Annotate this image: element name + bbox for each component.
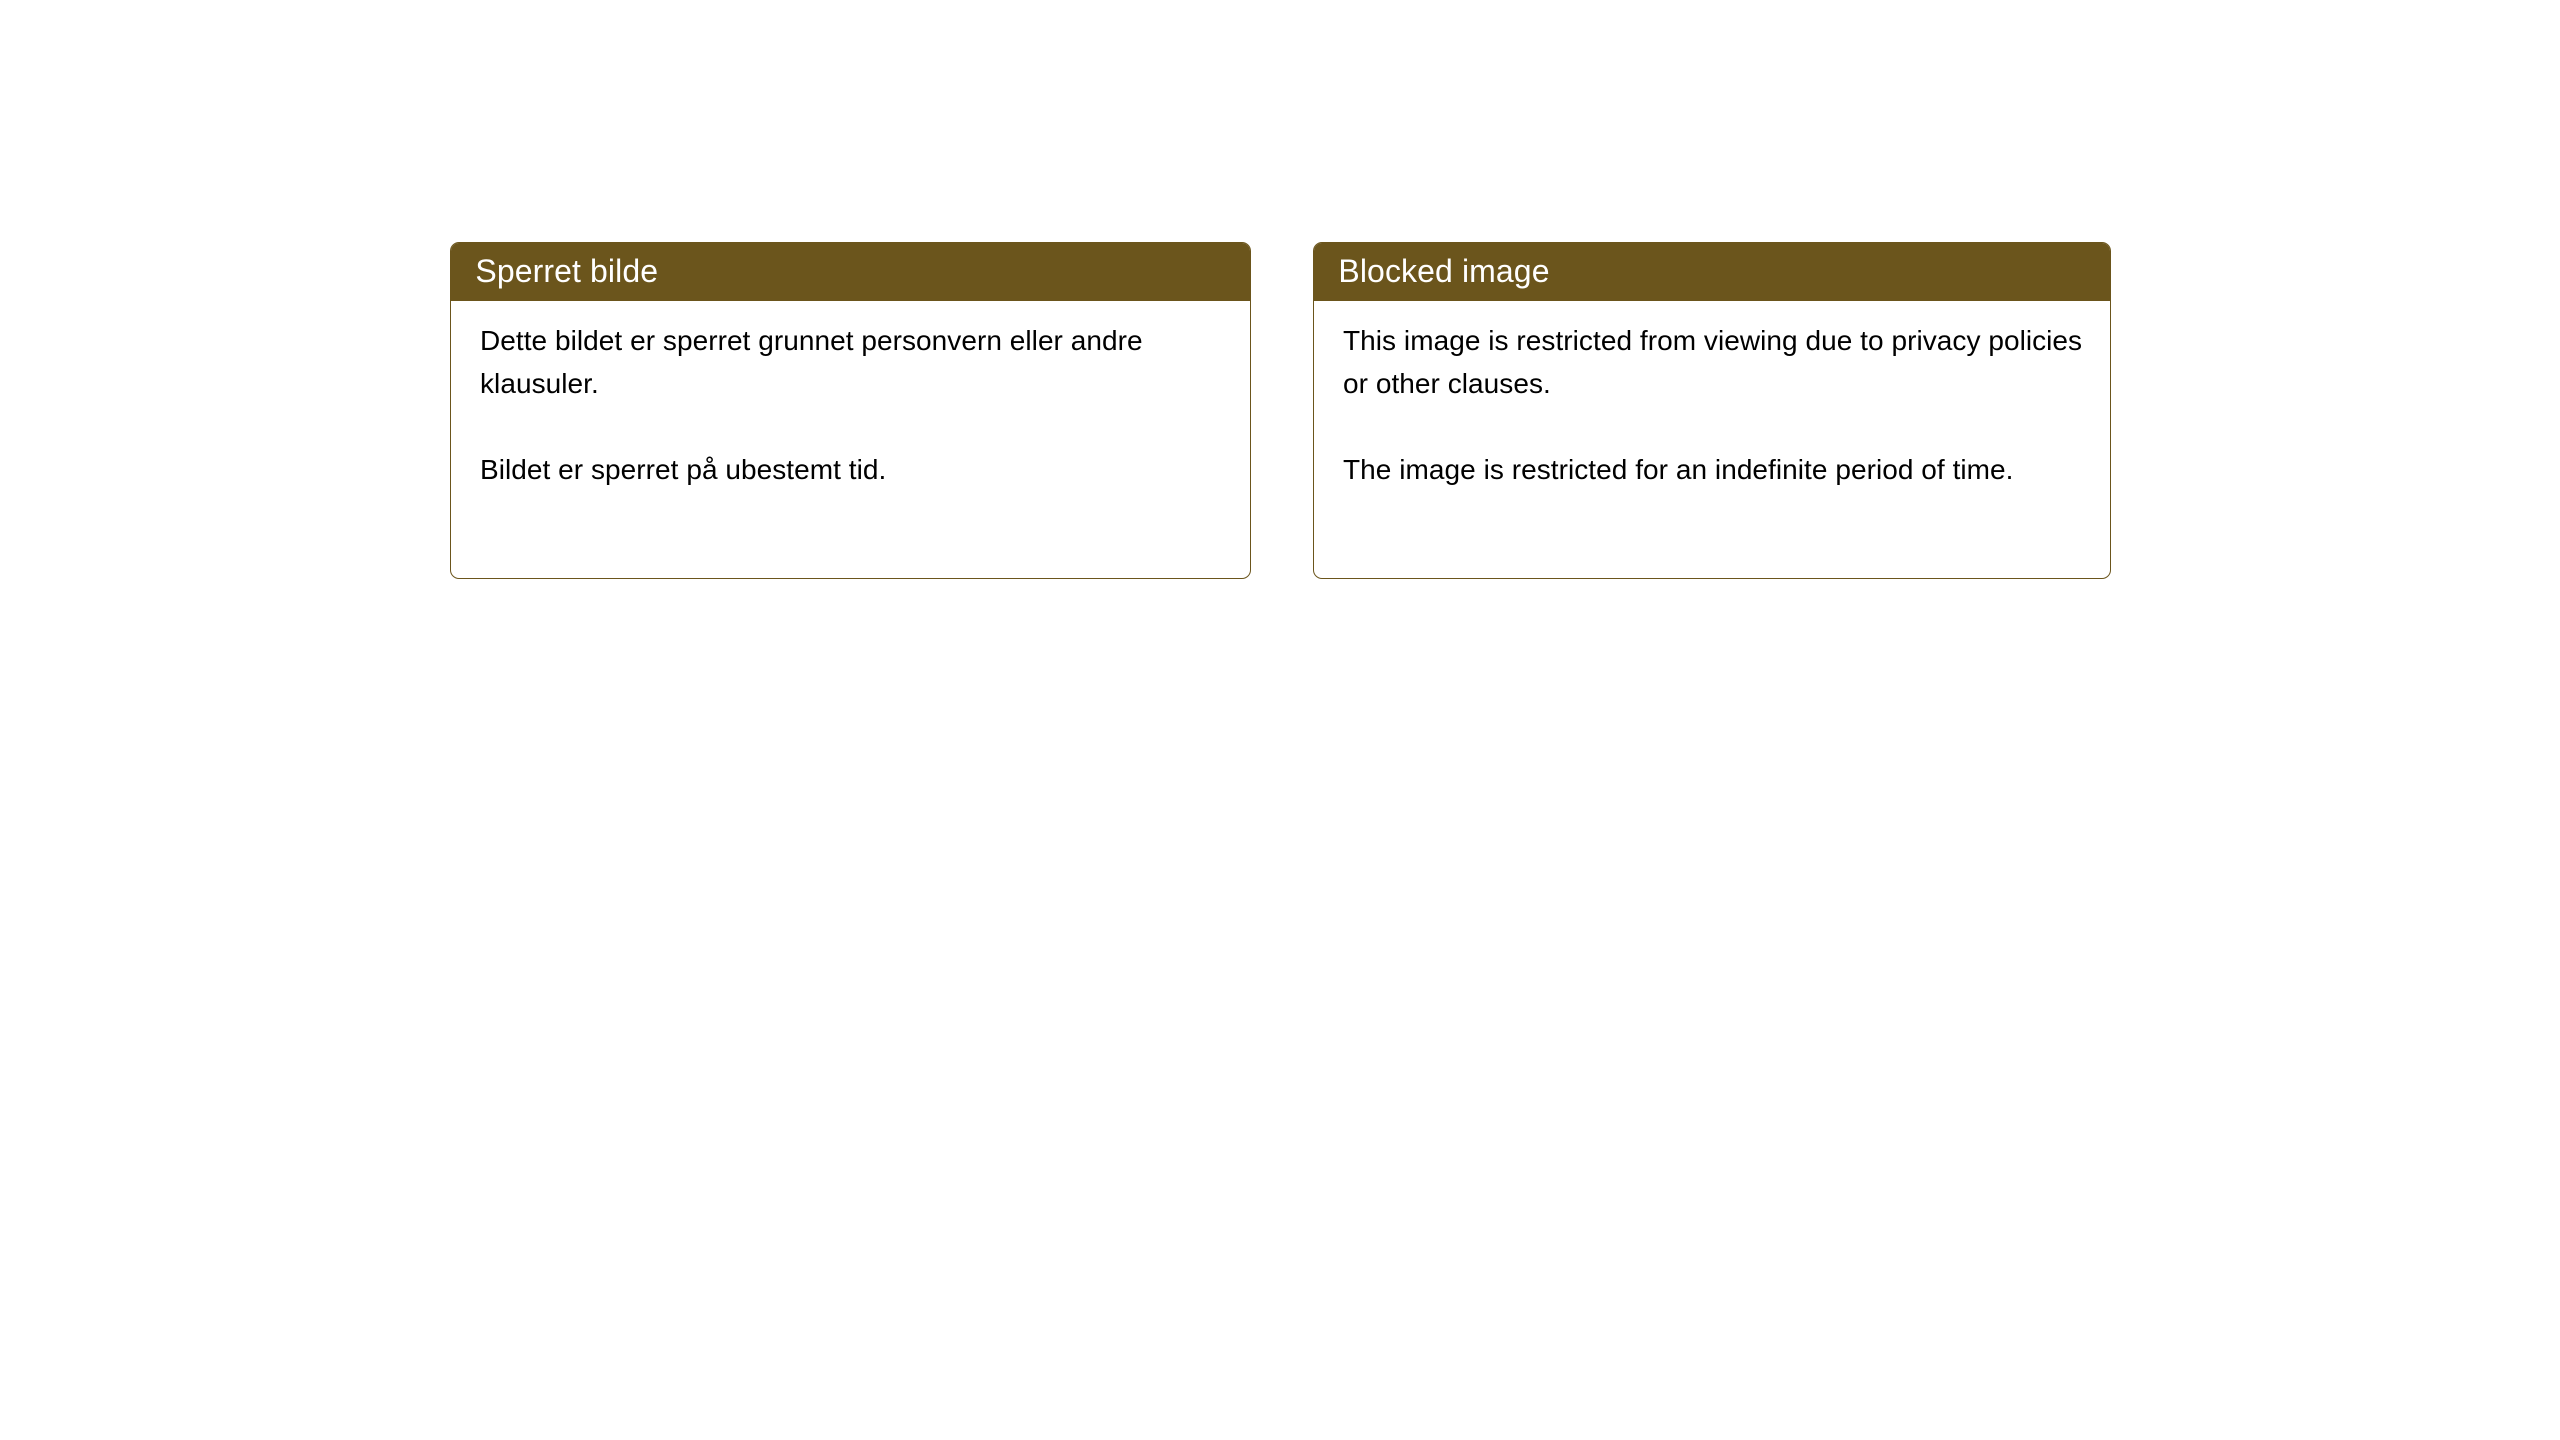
panel-paragraph-duration-norwegian: Bildet er sperret på ubestemt tid.	[480, 448, 1224, 491]
panel-title-english: Blocked image	[1338, 254, 1549, 288]
panel-paragraph-reason-english: This image is restricted from viewing du…	[1343, 319, 2084, 405]
blocked-image-notice-panel-norwegian: Sperret bilde Dette bildet er sperret gr…	[450, 242, 1251, 579]
panel-header-english: Blocked image	[1313, 242, 2111, 301]
panel-paragraph-reason-norwegian: Dette bildet er sperret grunnet personve…	[480, 319, 1224, 405]
panel-body-english: This image is restricted from viewing du…	[1314, 301, 2110, 491]
paragraph-spacer	[480, 405, 1224, 448]
panel-body-norwegian: Dette bildet er sperret grunnet personve…	[451, 301, 1250, 491]
blocked-image-notice-panel-english: Blocked image This image is restricted f…	[1313, 242, 2111, 579]
page-root: Sperret bilde Dette bildet er sperret gr…	[0, 0, 2560, 1440]
panel-paragraph-duration-english: The image is restricted for an indefinit…	[1343, 448, 2084, 491]
paragraph-spacer	[1343, 405, 2084, 448]
panel-title-norwegian: Sperret bilde	[475, 254, 658, 288]
panel-header-norwegian: Sperret bilde	[450, 242, 1251, 301]
